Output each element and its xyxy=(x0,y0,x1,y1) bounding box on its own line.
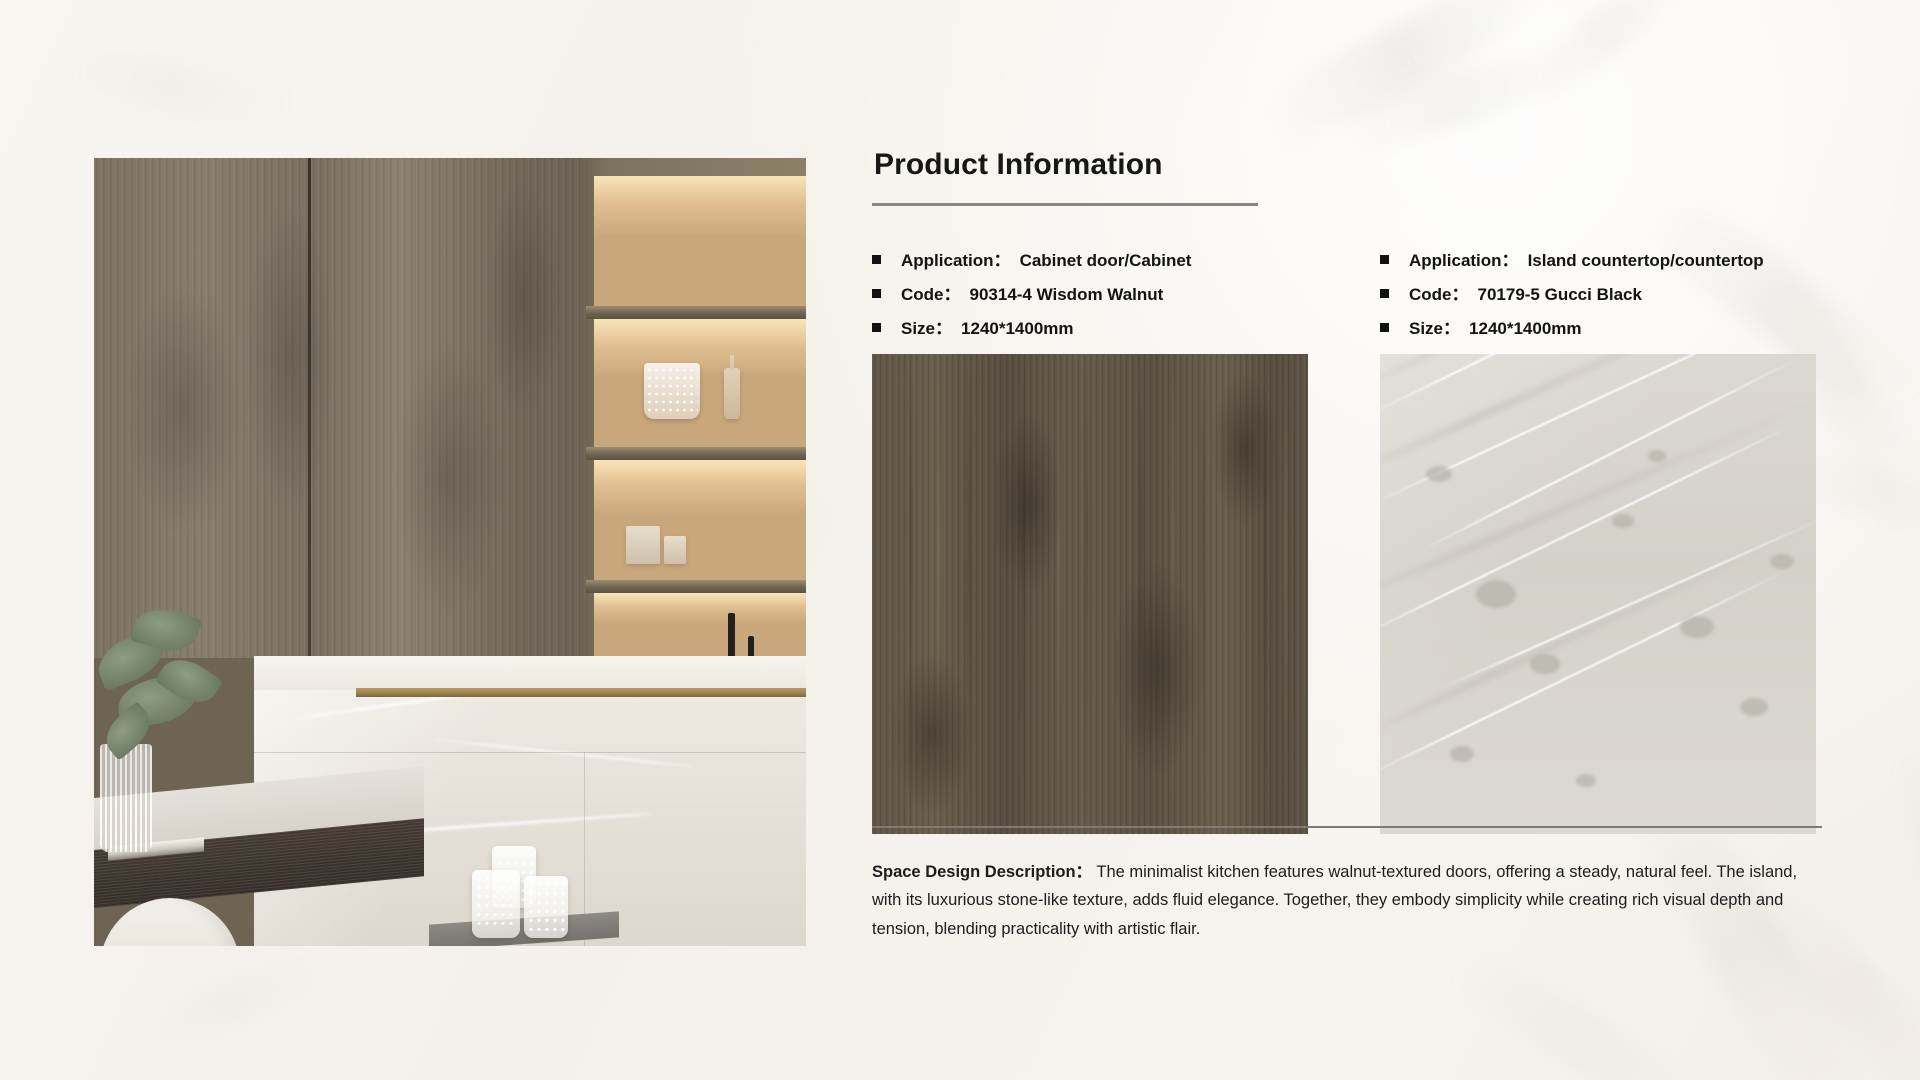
spec-columns: Application： Cabinet door/Cabinet Code： … xyxy=(872,252,1822,834)
spec-row-application: Application： Island countertop/counterto… xyxy=(1380,252,1816,269)
spec-row-size: Size： 1240*1400mm xyxy=(1380,320,1816,337)
drinking-glass xyxy=(524,876,568,938)
spec-value: Island countertop/countertop xyxy=(1528,252,1764,269)
spec-value: 90314-4 Wisdom Walnut xyxy=(970,286,1164,303)
kitchen-interior-photo xyxy=(94,158,806,946)
backlit-shelving-niche xyxy=(586,158,806,658)
spec-label: Application： xyxy=(1409,252,1519,269)
spec-column-walnut: Application： Cabinet door/Cabinet Code： … xyxy=(872,252,1308,834)
description-divider xyxy=(872,826,1822,828)
spec-value: 1240*1400mm xyxy=(1469,320,1581,337)
spec-value: 70179-5 Gucci Black xyxy=(1478,286,1642,303)
spec-row-size: Size： 1240*1400mm xyxy=(872,320,1308,337)
spec-row-code: Code： 70179-5 Gucci Black xyxy=(1380,286,1816,303)
spec-list-marble: Application： Island countertop/counterto… xyxy=(1380,252,1816,337)
square-bullet-icon xyxy=(872,289,881,298)
square-bullet-icon xyxy=(1380,323,1389,332)
space-design-description: Space Design Description： The minimalist… xyxy=(872,858,1822,943)
spec-label: Application： xyxy=(901,252,1011,269)
spec-row-application: Application： Cabinet door/Cabinet xyxy=(872,252,1308,269)
page-title: Product Information xyxy=(872,150,1822,180)
spec-column-marble: Application： Island countertop/counterto… xyxy=(1380,252,1816,834)
square-bullet-icon xyxy=(872,255,881,264)
textured-glass-jar xyxy=(644,363,700,419)
walnut-cabinet-wall xyxy=(94,158,586,658)
glass-bottle xyxy=(724,368,740,419)
description-heading: Space Design Description： xyxy=(872,863,1092,881)
spec-label: Size： xyxy=(901,320,952,337)
walnut-texture-swatch xyxy=(872,354,1308,834)
spec-list-walnut: Application： Cabinet door/Cabinet Code： … xyxy=(872,252,1308,337)
drinking-glass xyxy=(472,870,520,938)
square-bullet-icon xyxy=(1380,289,1389,298)
spec-label: Size： xyxy=(1409,320,1460,337)
ribbed-glass-vase xyxy=(100,744,152,852)
ceramic-vessel xyxy=(664,536,686,564)
ceramic-vessel xyxy=(626,526,660,564)
spec-value: Cabinet door/Cabinet xyxy=(1020,252,1192,269)
spec-value: 1240*1400mm xyxy=(961,320,1073,337)
brass-reveal-trim xyxy=(356,688,806,697)
square-bullet-icon xyxy=(872,323,881,332)
product-information-panel: Product Information Application： Cabinet… xyxy=(872,150,1822,834)
spec-label: Code： xyxy=(1409,286,1469,303)
island-countertop xyxy=(254,656,806,690)
square-bullet-icon xyxy=(1380,255,1389,264)
title-underline xyxy=(872,203,1258,206)
marble-texture-swatch xyxy=(1380,354,1816,834)
spec-label: Code： xyxy=(901,286,961,303)
spec-row-code: Code： 90314-4 Wisdom Walnut xyxy=(872,286,1308,303)
